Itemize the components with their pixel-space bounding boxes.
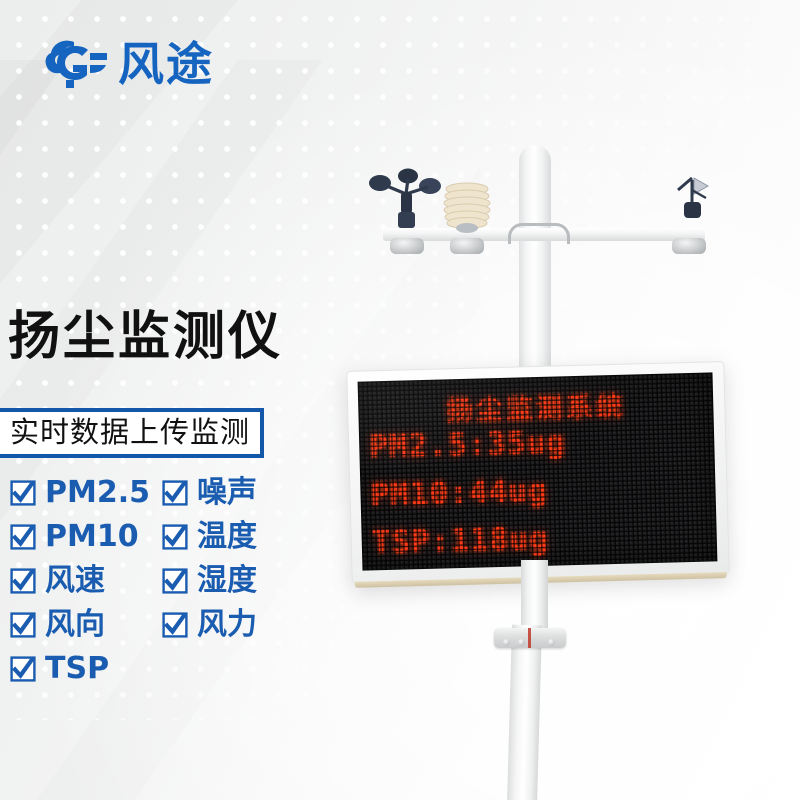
feature-item-humidity: 湿度 [162,566,312,596]
feature-label: 风速 [45,566,105,596]
feature-label: PM10 [45,522,139,552]
sensor-mount-left [390,238,424,254]
sensor-mount-middle [450,238,484,254]
clamp-red-marker [528,628,531,648]
feature-item-pm25: PM2.5 [10,478,162,508]
wind-vane-icon [668,172,716,234]
checked-checkbox-icon [162,612,188,638]
headline-block: 扬尘监测仪 [8,310,283,365]
checked-checkbox-icon [162,524,188,550]
feature-label: 温度 [197,522,257,552]
led-reading-tsp: TSP:118ug [371,521,549,562]
brand-logo: 风途 [44,36,214,92]
checked-checkbox-icon [10,612,36,638]
mast-pole-upper [519,145,551,390]
subtitle-text: 实时数据上传监测 [10,414,250,450]
mast-pole-middle [521,560,548,632]
sensor-mount-right [672,238,706,254]
feature-checklist: PM2.5 噪声 PM10 温度 [10,478,312,684]
feature-item-noise: 噪声 [162,478,312,508]
radiation-shield-icon [440,180,494,236]
feature-label: 湿度 [197,566,257,596]
crossarm-collar [508,223,570,244]
feature-label: 噪声 [197,478,257,508]
led-display-panel: 扬尘监测系统 PM2.5:35ug PM10:44ug TSP:118ug [346,361,729,583]
clamp-bolt-right [548,639,555,646]
feature-label: PM2.5 [45,478,150,508]
feature-item-wind-speed: 风速 [10,566,162,596]
subtitle-box: 实时数据上传监测 [0,408,264,458]
promo-banner: 风途 扬尘监测仪 实时数据上传监测 PM2.5 噪声 [0,0,800,800]
mast-pole-lower [507,625,542,800]
feature-item-wind-force: 风力 [162,610,312,640]
clamp-bolt-left [503,639,510,646]
feature-label: 风向 [45,610,105,640]
led-screen: 扬尘监测系统 PM2.5:35ug PM10:44ug TSP:118ug [358,372,718,570]
feature-item-wind-direction: 风向 [10,610,162,640]
led-reading-pm10: PM10:44ug [370,473,548,514]
feature-item-temperature: 温度 [162,522,312,552]
feature-item-tsp: TSP [10,654,162,684]
led-display-title: 扬尘监测系统 [445,385,626,429]
led-reading-pm25: PM2.5:35ug [369,424,567,465]
pole-mounting-clamp [494,628,566,648]
checked-checkbox-icon [162,480,188,506]
checked-checkbox-icon [10,524,36,550]
feature-item-pm10: PM10 [10,522,162,552]
checked-checkbox-icon [10,480,36,506]
feature-label: 风力 [197,610,257,640]
checked-checkbox-icon [10,656,36,682]
checked-checkbox-icon [162,568,188,594]
brand-name: 风途 [118,41,214,87]
fengtu-cloud-g-logo-icon [44,36,108,92]
page-title: 扬尘监测仪 [8,310,283,365]
clamp-bolt-center [518,639,525,646]
checked-checkbox-icon [10,568,36,594]
feature-label: TSP [45,654,109,684]
cup-anemometer-icon [368,168,444,234]
